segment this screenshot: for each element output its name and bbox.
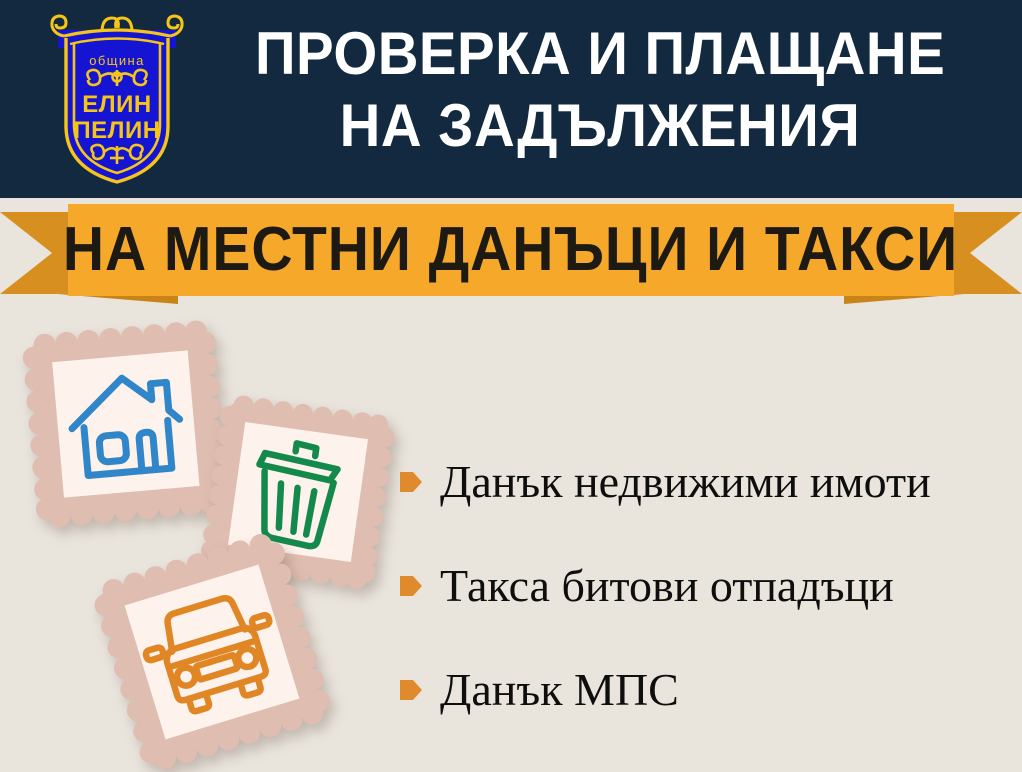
crest-name-line-1: ЕЛИН: [82, 91, 151, 118]
poster-title: ПРОВЕРКА И ПЛАЩАНЕ НА ЗАДЪЛЖЕНИЯ: [190, 18, 1010, 183]
crest-name-line-2: ПЕЛИН: [73, 117, 160, 144]
stamp-car: [92, 532, 332, 772]
municipality-crest: община ЕЛИН ПЕЛИН: [44, 8, 190, 188]
arrow-right-bullet-icon: [400, 573, 422, 599]
crest-municipality-word: община: [89, 53, 144, 68]
list-item-label: Такса битови отпадъци: [440, 561, 894, 611]
list-item[interactable]: Такса битови отпадъци: [400, 534, 1010, 638]
subtitle-ribbon: НА МЕСТНИ ДАНЪЦИ И ТАКСИ: [0, 198, 1022, 308]
list-item[interactable]: Данък МПС: [400, 638, 1010, 742]
title-line-2: НА ЗАДЪЛЖЕНИЯ: [340, 90, 861, 162]
list-item-label: Данък недвижими имоти: [440, 457, 931, 507]
poster-canvas: община ЕЛИН ПЕЛИН ПРОВЕРКА И П: [0, 0, 1022, 772]
ribbon-center-panel: НА МЕСТНИ ДАНЪЦИ И ТАКСИ: [68, 204, 954, 296]
list-item-label: Данък МПС: [440, 665, 679, 715]
arrow-right-bullet-icon: [400, 469, 422, 495]
list-item[interactable]: Данък недвижими имоти: [400, 430, 1010, 534]
arrow-right-bullet-icon: [400, 677, 422, 703]
ribbon-text: НА МЕСТНИ ДАНЪЦИ И ТАКСИ: [63, 219, 958, 281]
title-line-1: ПРОВЕРКА И ПЛАЩАНЕ: [255, 18, 945, 90]
tax-types-list: Данък недвижими имоти Такса битови отпад…: [400, 430, 1010, 742]
